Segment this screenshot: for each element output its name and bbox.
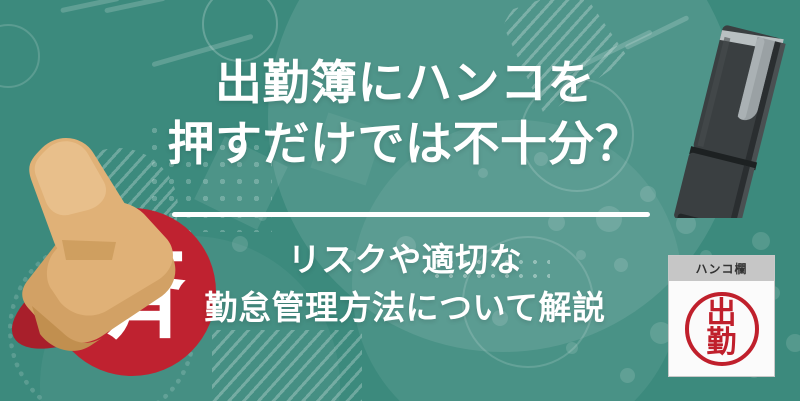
subtitle-line-2: 勤怠管理方法について解説 xyxy=(150,284,660,332)
title-divider xyxy=(172,212,650,217)
subtitle-line-1: リスクや適切な xyxy=(150,236,660,284)
hanko-field-label: ハンコ欄 xyxy=(669,256,774,281)
seal-char-bottom: 勤 xyxy=(707,329,737,358)
attendance-seal-icon: 出 勤 xyxy=(685,292,759,366)
decorative-bubble xyxy=(620,368,635,383)
hanko-field-box: ハンコ欄 出 勤 xyxy=(668,255,775,377)
banner-root: 済 xyxy=(0,0,800,401)
hanko-field-body: 出 勤 xyxy=(669,281,774,376)
decorative-bubble xyxy=(596,206,622,232)
headline-block: 出勤簿にハンコを 押すだけでは不十分？ xyxy=(150,52,660,174)
decorative-bubble xyxy=(640,186,656,202)
decorative-stripe-block xyxy=(212,330,362,401)
stamp-pen-icon xyxy=(672,12,800,218)
seal-char-top: 出 xyxy=(707,300,737,329)
title-line-2: 押すだけでは不十分？ xyxy=(150,113,660,174)
decorative-bubble xyxy=(752,232,770,250)
decorative-bubble xyxy=(566,342,578,354)
decorative-ring-small xyxy=(0,24,40,88)
decorative-bubble xyxy=(786,334,800,352)
title-line-1: 出勤簿にハンコを xyxy=(150,52,660,113)
subheadline-block: リスクや適切な 勤怠管理方法について解説 xyxy=(150,236,660,332)
